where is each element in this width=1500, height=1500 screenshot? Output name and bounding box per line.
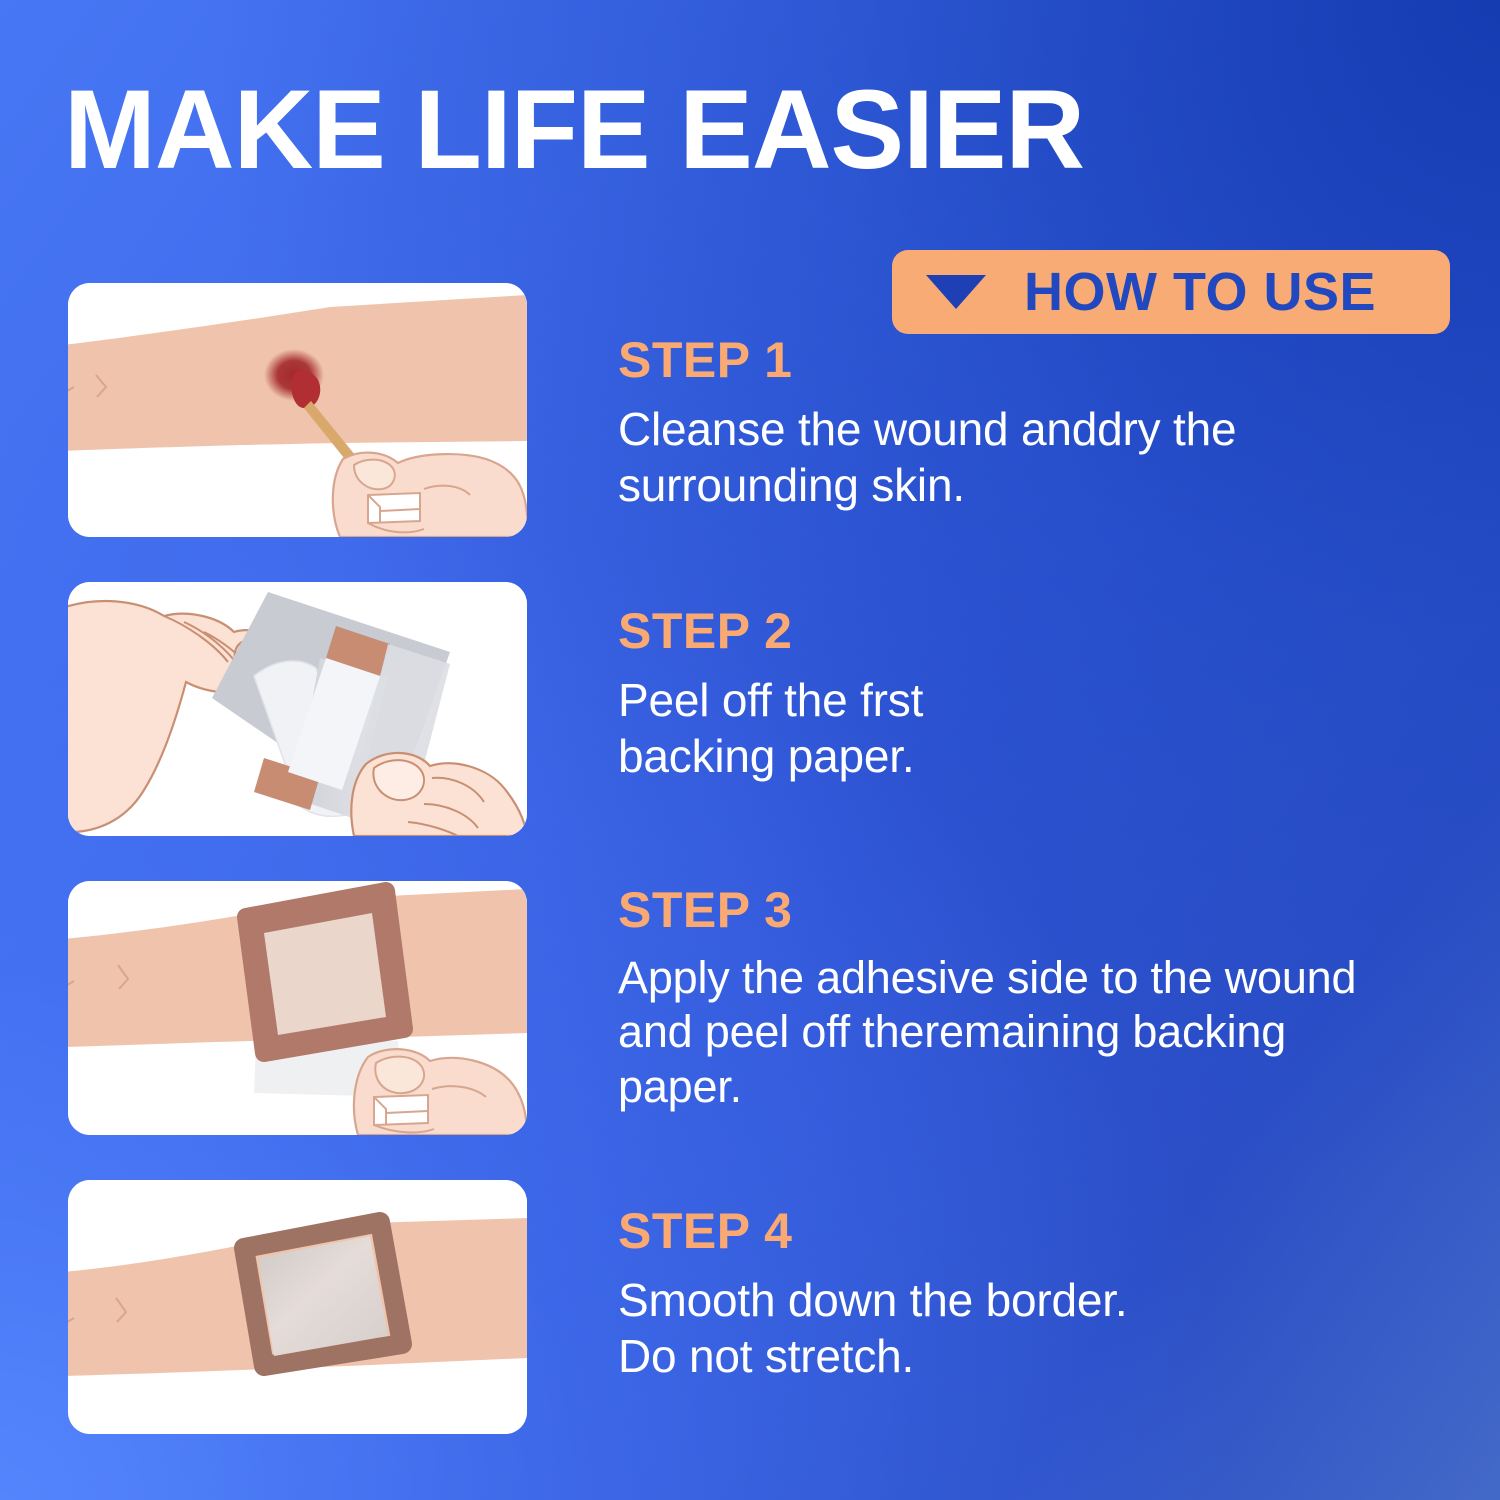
illustration-hands-peeling-backing bbox=[68, 582, 527, 836]
step-3-illustration-card bbox=[68, 881, 527, 1135]
step-4-text-block: STEP 4 Smooth down the border.Do not str… bbox=[618, 1205, 1418, 1384]
step-3-label: STEP 3 bbox=[618, 884, 1418, 937]
step-2-text-block: STEP 2 Peel off the frstbacking paper. bbox=[618, 605, 1418, 784]
illustration-arm-wound-swab bbox=[68, 283, 527, 537]
illustration-dressing-applied bbox=[68, 881, 527, 1135]
step-4-illustration-card bbox=[68, 1180, 527, 1434]
step-4-label: STEP 4 bbox=[618, 1205, 1418, 1258]
step-1-illustration-card bbox=[68, 283, 527, 537]
step-1-description: Cleanse the wound anddry the surrounding… bbox=[618, 401, 1418, 513]
triangle-down-icon bbox=[926, 275, 986, 309]
poster-root: MAKE LIFE EASIER HOW TO USE bbox=[0, 0, 1500, 1500]
step-2-illustration-card bbox=[68, 582, 527, 836]
illustration-smoothed-dressing bbox=[68, 1180, 527, 1434]
how-to-use-label: HOW TO USE bbox=[1024, 261, 1376, 323]
step-1-label: STEP 1 bbox=[618, 334, 1418, 387]
step-2-description: Peel off the frstbacking paper. bbox=[618, 672, 1418, 784]
step-4-description: Smooth down the border.Do not stretch. bbox=[618, 1272, 1418, 1384]
step-3-description: Apply the adhesive side to the wound and… bbox=[618, 951, 1418, 1116]
step-1-text-block: STEP 1 Cleanse the wound anddry the surr… bbox=[618, 334, 1418, 513]
page-title: MAKE LIFE EASIER bbox=[64, 74, 1443, 186]
how-to-use-badge[interactable]: HOW TO USE bbox=[892, 250, 1450, 334]
step-2-label: STEP 2 bbox=[618, 605, 1418, 658]
step-3-text-block: STEP 3 Apply the adhesive side to the wo… bbox=[618, 884, 1418, 1115]
